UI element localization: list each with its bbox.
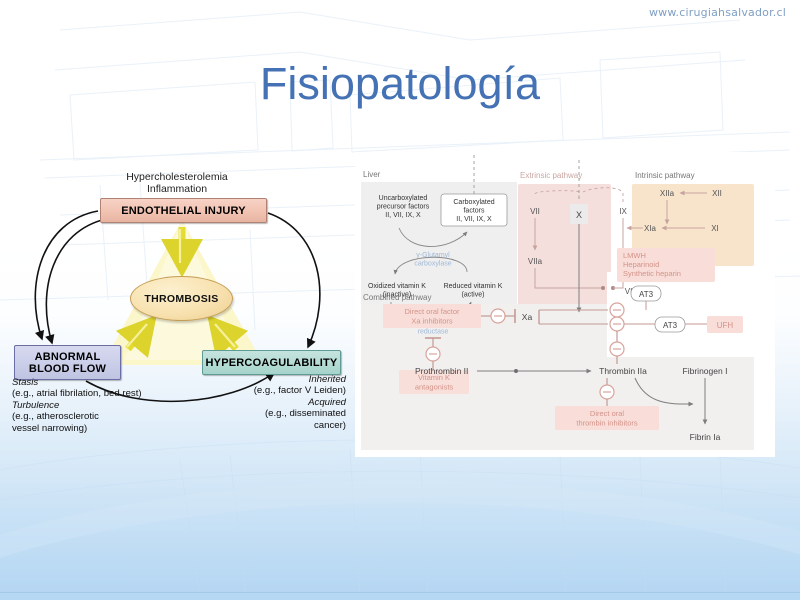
svg-text:Carboxylated: Carboxylated xyxy=(453,199,494,206)
triad-top-caption: Hypercholesterolemia Inflammation xyxy=(62,171,292,195)
factor-xii: XII xyxy=(712,189,722,198)
footnote-right-line-4: (e.g., disseminated xyxy=(265,408,346,419)
box-abnormal-blood-flow-line1: ABNORMAL xyxy=(35,351,101,363)
label-gamma-glutamyl-carboxylase-2: carboxylase xyxy=(414,261,451,268)
ellipse-thrombosis: THROMBOSIS xyxy=(130,276,233,321)
virchow-triad-diagram: Hypercholesterolemia Inflammation ENDOTH… xyxy=(2,165,350,445)
label-extrinsic-pathway: Extrinsic pathway xyxy=(520,171,582,180)
label-thrombin-iia: Thrombin IIa xyxy=(599,366,647,376)
label-oxidized-vitamin-k-1: Oxidized vitamin K xyxy=(368,283,426,290)
box-abnormal-blood-flow-line2: BLOOD FLOW xyxy=(29,363,106,375)
footnote-hypercoagulability: Inherited (e.g., factor V Leiden) Acquir… xyxy=(200,374,346,431)
box-hypercoagulability-label: HYPERCOAGULABILITY xyxy=(206,357,338,369)
label-uncarboxylated-1: Uncarboxylated xyxy=(379,195,428,202)
svg-text:Direct oral factor: Direct oral factor xyxy=(404,307,460,316)
svg-text:Heparinoid: Heparinoid xyxy=(623,260,659,269)
label-prothrombin-ii: Prothrombin II xyxy=(415,366,468,376)
bottom-color-band xyxy=(0,593,800,600)
footnote-right-line-2: (e.g., factor V Leiden) xyxy=(254,385,346,396)
factor-viia: VIIa xyxy=(528,257,543,266)
svg-text:AT3: AT3 xyxy=(663,321,678,330)
svg-text:II, VII, IX, X: II, VII, IX, X xyxy=(456,216,492,223)
site-url-label: www.cirugiahsalvador.cl xyxy=(649,6,786,19)
label-epoxide-reductase-2: reductase xyxy=(418,329,449,336)
footnote-left-line-4: (e.g., atherosclerotic xyxy=(12,411,99,422)
footnote-right-line-5: cancer) xyxy=(314,420,346,431)
label-uncarboxylated-2: precursor factors xyxy=(377,204,430,211)
svg-text:thrombin inhibitors: thrombin inhibitors xyxy=(576,419,638,428)
page-title: Fisiopatología xyxy=(0,58,800,110)
svg-text:Synthetic heparin: Synthetic heparin xyxy=(623,269,681,278)
footnote-left-line-5: vessel narrowing) xyxy=(12,423,87,434)
factor-ix: IX xyxy=(619,207,627,216)
svg-text:UFH: UFH xyxy=(717,321,734,330)
svg-text:factors: factors xyxy=(463,208,485,215)
factor-xi: XI xyxy=(711,224,719,233)
label-reduced-vitamin-k-2: (active) xyxy=(462,292,485,299)
caption-line-1: Hypercholesterolemia xyxy=(126,171,228,183)
label-intrinsic-pathway: Intrinsic pathway xyxy=(635,171,695,180)
box-endothelial-injury-label: ENDOTHELIAL INJURY xyxy=(121,205,246,217)
svg-text:antagonists: antagonists xyxy=(415,383,454,392)
svg-text:LMWH: LMWH xyxy=(623,251,646,260)
label-fibrin-ia: Fibrin Ia xyxy=(690,432,721,442)
ellipse-thrombosis-label: THROMBOSIS xyxy=(144,293,218,305)
slide-canvas: www.cirugiahsalvador.cl Fisiopatología xyxy=(0,0,800,600)
label-liver: Liver xyxy=(363,170,381,179)
factor-x: X xyxy=(576,210,582,220)
footnote-abnormal-blood-flow: Stasis (e.g., atrial fibrilation, bed re… xyxy=(12,377,192,434)
label-reduced-vitamin-k-1: Reduced vitamin K xyxy=(444,283,503,290)
factor-vii: VII xyxy=(530,207,540,216)
footnote-left-line-1: Stasis xyxy=(12,377,38,388)
box-endothelial-injury: ENDOTHELIAL INJURY xyxy=(100,198,267,223)
label-uncarboxylated-3: II, VII, IX, X xyxy=(385,212,421,219)
box-abnormal-blood-flow: ABNORMAL BLOOD FLOW xyxy=(14,345,121,380)
factor-xa: Xa xyxy=(522,312,533,322)
footnote-left-line-3: Turbulence xyxy=(12,400,59,411)
svg-text:Direct oral: Direct oral xyxy=(590,409,625,418)
svg-text:Xa inhibitors: Xa inhibitors xyxy=(411,317,453,326)
svg-text:AT3: AT3 xyxy=(639,290,654,299)
factor-xiia: XIIa xyxy=(660,189,675,198)
label-fibrinogen-i: Fibrinogen I xyxy=(683,366,728,376)
caption-line-2: Inflammation xyxy=(147,183,207,195)
factor-xia: XIa xyxy=(644,224,657,233)
footnote-right-line-1: Inherited xyxy=(309,374,346,385)
coagulation-cascade-diagram: Liver Extrinsic pathway Intrinsic pathwa… xyxy=(355,152,775,457)
box-hypercoagulability: HYPERCOAGULABILITY xyxy=(202,350,341,375)
label-oxidized-vitamin-k-2: (inactive) xyxy=(383,292,411,299)
footnote-left-line-2: (e.g., atrial fibrilation, bed rest) xyxy=(12,388,142,399)
footnote-right-line-3: Acquired xyxy=(308,397,346,408)
